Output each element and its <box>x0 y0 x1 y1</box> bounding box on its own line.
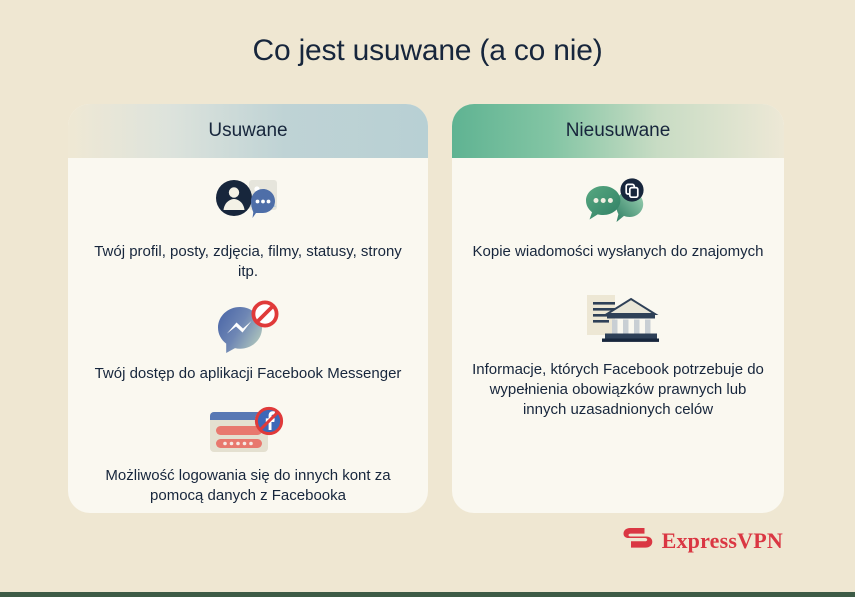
legal-document-courthouse-icon <box>577 288 659 350</box>
list-item: Informacje, których Facebook potrzebuje … <box>466 288 770 420</box>
list-item-caption: Twój profil, posty, zdjęcia, filmy, stat… <box>82 242 414 282</box>
list-item: Możliwość logowania się do innych kont z… <box>82 400 414 506</box>
profile-photos-posts-icon <box>211 174 285 236</box>
messenger-blocked-icon <box>213 298 283 360</box>
bottom-bar <box>0 592 855 597</box>
list-item: Twój profil, posty, zdjęcia, filmy, stat… <box>82 174 414 282</box>
chat-bubbles-copy-icon <box>582 174 654 236</box>
card-kept-header: Nieusuwane <box>452 104 784 158</box>
card-removed: Usuwane <box>68 104 428 513</box>
card-removed-header: Usuwane <box>68 104 428 158</box>
list-item: Kopie wiadomości wysłanych do znajomych <box>466 174 770 262</box>
card-kept: Nieusuwane <box>452 104 784 513</box>
card-kept-body: Kopie wiadomości wysłanych do znajomych <box>452 158 784 513</box>
card-removed-body: Twój profil, posty, zdjęcia, filmy, stat… <box>68 158 428 513</box>
page-title: Co jest usuwane (a co nie) <box>0 34 855 68</box>
list-item: Twój dostęp do aplikacji Facebook Messen… <box>82 298 414 384</box>
login-form-blocked-icon <box>205 400 291 462</box>
expressvpn-e-mark-icon <box>623 524 653 557</box>
list-item-caption: Informacje, których Facebook potrzebuje … <box>466 360 770 420</box>
brand-logo[interactable]: ExpressVPN <box>623 524 783 557</box>
list-item-caption: Twój dostęp do aplikacji Facebook Messen… <box>89 364 408 384</box>
list-item-caption: Kopie wiadomości wysłanych do znajomych <box>467 242 770 262</box>
brand-wordmark: ExpressVPN <box>662 528 783 554</box>
list-item-caption: Możliwość logowania się do innych kont z… <box>82 466 414 506</box>
